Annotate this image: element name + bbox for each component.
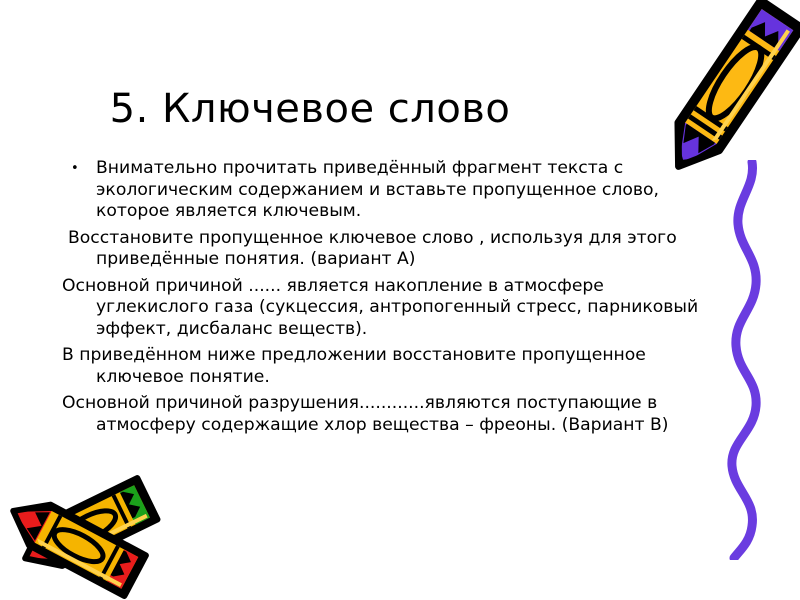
slide-body: • Внимательно прочитать приведённый фраг… bbox=[62, 158, 702, 438]
list-item: • Внимательно прочитать приведённый фраг… bbox=[62, 158, 702, 223]
crayons-bottom-left-icon bbox=[0, 455, 194, 600]
bullet-icon: • bbox=[71, 158, 79, 180]
slide-canvas: 5. Ключевое слово • Внимательно прочитат… bbox=[0, 0, 800, 600]
paragraph: Основной причиной ...... является накопл… bbox=[62, 276, 702, 341]
page-title: 5. Ключевое слово bbox=[0, 86, 620, 132]
squiggle-stroke-icon bbox=[690, 160, 790, 564]
paragraph: Основной причиной разрушения............… bbox=[62, 393, 702, 436]
paragraph: Восстановите пропущенное ключевое слово … bbox=[62, 228, 702, 271]
paragraph: В приведённом ниже предложении восстанов… bbox=[62, 345, 702, 388]
paragraph-text: Внимательно прочитать приведённый фрагме… bbox=[96, 158, 702, 223]
